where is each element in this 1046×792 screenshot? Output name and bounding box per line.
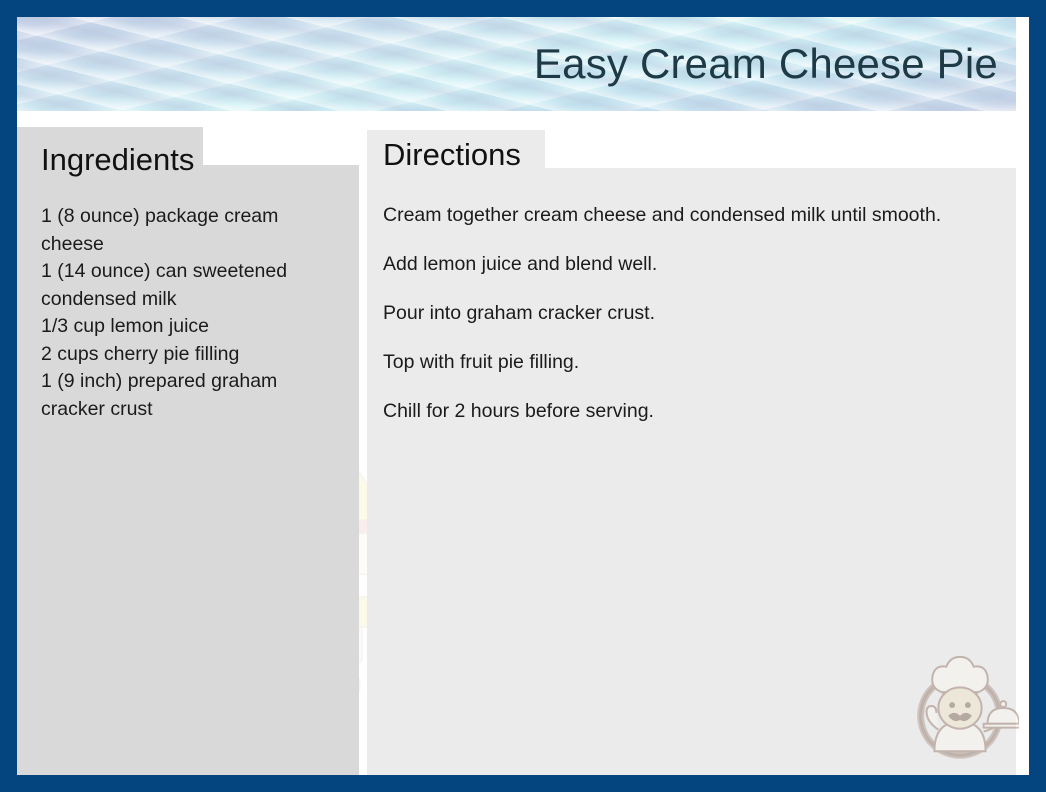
page-title: Easy Cream Cheese Pie	[534, 37, 998, 91]
directions-tab-notch	[545, 130, 1016, 168]
directions-step-list: Cream together cream cheese and condense…	[383, 202, 1003, 447]
directions-heading: Directions	[383, 136, 521, 174]
header-banner: Easy Cream Cheese Pie	[17, 17, 1016, 111]
ingredients-heading: Ingredients	[41, 141, 194, 179]
direction-step: Pour into graham cracker crust.	[383, 300, 1003, 326]
direction-step: Top with fruit pie filling.	[383, 349, 1003, 375]
ingredients-panel: Ingredients 1 (8 ounce) package cream ch…	[17, 127, 359, 775]
ingredients-list: 1 (8 ounce) package cream cheese 1 (14 o…	[41, 203, 333, 423]
directions-panel: Directions Cream together cream cheese a…	[367, 130, 1016, 775]
direction-step: Add lemon juice and blend well.	[383, 251, 1003, 277]
recipe-slide: Easy Cream Cheese Pie	[17, 17, 1029, 775]
ingredients-tab-notch	[203, 127, 359, 165]
direction-step: Chill for 2 hours before serving.	[383, 398, 1003, 424]
direction-step: Cream together cream cheese and condense…	[383, 202, 1003, 228]
